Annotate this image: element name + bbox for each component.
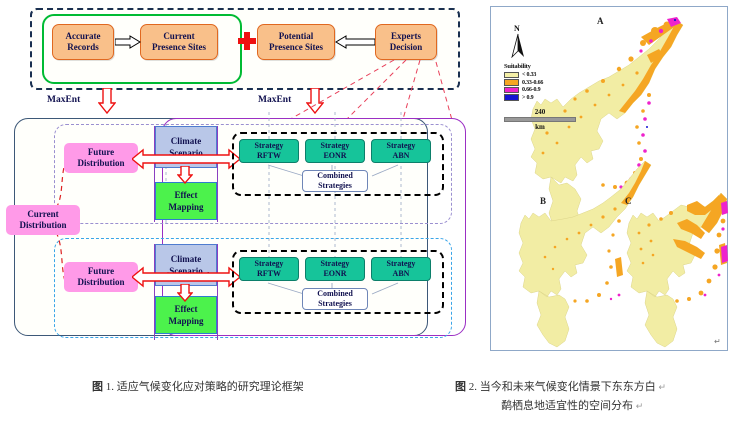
caption-figure-2: 图 2. 当今和未来气候变化情景下东东方白 ↵ 鹬栖息地适宜性的空间分布 ↵ [455,378,735,416]
current-distribution-label: CurrentDistribution [19,209,66,231]
panel-label-b: B [540,196,546,206]
future-distribution-box-2[interactable]: FutureDistribution [64,262,138,292]
legend-swatch [504,94,519,101]
strategy-line2: EONR [323,269,346,279]
caption-1-text: 适应气候变化应对策略的研究理论框架 [117,381,304,393]
caption-figure-1: 图 1. 适应气候变化应对策略的研究理论框架 [92,378,422,397]
experts-decision-label: ExpertsDecision [390,31,423,53]
strategy-line1: Strategy [255,141,284,151]
legend-label: < 0.33 [522,72,536,78]
plus-icon [238,32,256,50]
future-distribution-box-1[interactable]: FutureDistribution [64,143,138,173]
combined-strategies-label-2: CombinedStrategies [317,289,353,309]
caption-2-line1: 当今和未来气候变化情景下东东方白 [480,381,656,393]
strategy-box-eonr-2[interactable]: Strategy EONR [305,257,365,281]
scenario-column-bar-right-2 [217,244,218,340]
accurate-records-label: AccurateRecords [66,31,101,53]
effect-mapping-label-2: EffectMapping [168,303,203,327]
effect-mapping-label-1: EffectMapping [168,189,203,213]
strategy-box-eonr-1[interactable]: Strategy EONR [305,139,365,163]
legend-title: Suitability [504,63,558,70]
strategy-line1: Strategy [387,259,416,269]
map-panel-c [627,193,728,347]
maxent-label-left: MaxEnt [47,95,80,105]
scale-bar-unit: km [504,123,576,131]
north-arrow-icon: N [505,24,531,58]
combined-strategies-label-1: CombinedStrategies [317,171,353,191]
scale-bar-value: 240 [504,108,576,116]
legend-label: 0.33-0.66 [522,80,543,86]
strategy-box-rftw-2[interactable]: Strategy RFTW [239,257,299,281]
paragraph-mark-map: ↵ [714,337,721,346]
arrow-right-icon [115,35,141,49]
red-down-arrow-scenario-2 [177,284,193,302]
potential-presence-sites-box[interactable]: PotentialPresence Sites [257,24,335,60]
potential-presence-sites-label: PotentialPresence Sites [269,31,323,53]
arrow-left-icon [335,35,375,49]
caption-2-line2: 鹬栖息地适宜性的空间分布 [501,400,633,412]
panel-label-c: C [625,196,632,206]
strategy-box-rftw-1[interactable]: Strategy RFTW [239,139,299,163]
future-distribution-label-2: FutureDistribution [77,266,124,288]
experts-decision-box[interactable]: ExpertsDecision [375,24,437,60]
caption-2-mark2: ↵ [636,401,644,411]
legend-label: > 0.9 [522,95,533,101]
red-down-arrow-scenario-1 [177,166,193,184]
combined-strategies-box-1[interactable]: CombinedStrategies [302,170,368,192]
combined-strategies-box-2[interactable]: CombinedStrategies [302,288,368,310]
strategy-line1: Strategy [321,141,350,151]
legend-row: 0.33-0.66 [504,79,558,86]
scenario-column-bar-right-1 [217,126,218,222]
strategy-box-abn-1[interactable]: Strategy ABN [371,139,431,163]
legend-swatch [504,79,519,86]
current-distribution-box[interactable]: CurrentDistribution [6,205,80,235]
figure-1-framework-diagram: AccurateRecords CurrentPresence Sites Po… [0,0,482,360]
red-down-arrow-icon-right [306,88,324,114]
strategy-line2: RFTW [257,269,281,279]
legend-label: 0.66-0.9 [522,87,540,93]
accurate-records-box[interactable]: AccurateRecords [52,24,114,60]
caption-1-prefix: 图 [92,381,103,393]
legend-row: 0.66-0.9 [504,87,558,94]
strategy-line2: ABN [393,269,410,279]
legend-swatch [504,72,519,79]
north-arrow-glyph [505,33,531,58]
scale-bar: 240 km [504,108,576,131]
strategy-line2: RFTW [257,151,281,161]
strategy-line1: Strategy [321,259,350,269]
legend-row: < 0.33 [504,72,558,79]
future-distribution-label-1: FutureDistribution [77,147,124,169]
effect-mapping-box-1[interactable]: EffectMapping [155,182,217,220]
north-arrow-label: N [514,24,520,33]
legend-swatch [504,87,519,94]
red-down-arrow-icon-left [98,88,116,114]
caption-2-prefix: 图 [455,381,466,393]
strategy-line2: EONR [323,151,346,161]
caption-1-number: 1. [106,381,114,393]
panel-label-a: A [597,16,604,26]
caption-2-mark1: ↵ [659,382,667,392]
scale-bar-line [504,117,576,122]
strategy-line1: Strategy [255,259,284,269]
suitability-map-canvas [491,7,729,352]
strategy-line2: ABN [393,151,410,161]
legend-row: > 0.9 [504,94,558,101]
suitability-legend: Suitability < 0.33 0.33-0.66 0.66-0.9 > … [504,63,558,102]
strategy-box-abn-2[interactable]: Strategy ABN [371,257,431,281]
caption-2-number: 2. [469,381,477,393]
current-presence-sites-label: CurrentPresence Sites [152,31,206,53]
maxent-label-right: MaxEnt [258,95,291,105]
strategy-line1: Strategy [387,141,416,151]
current-presence-sites-box[interactable]: CurrentPresence Sites [140,24,218,60]
